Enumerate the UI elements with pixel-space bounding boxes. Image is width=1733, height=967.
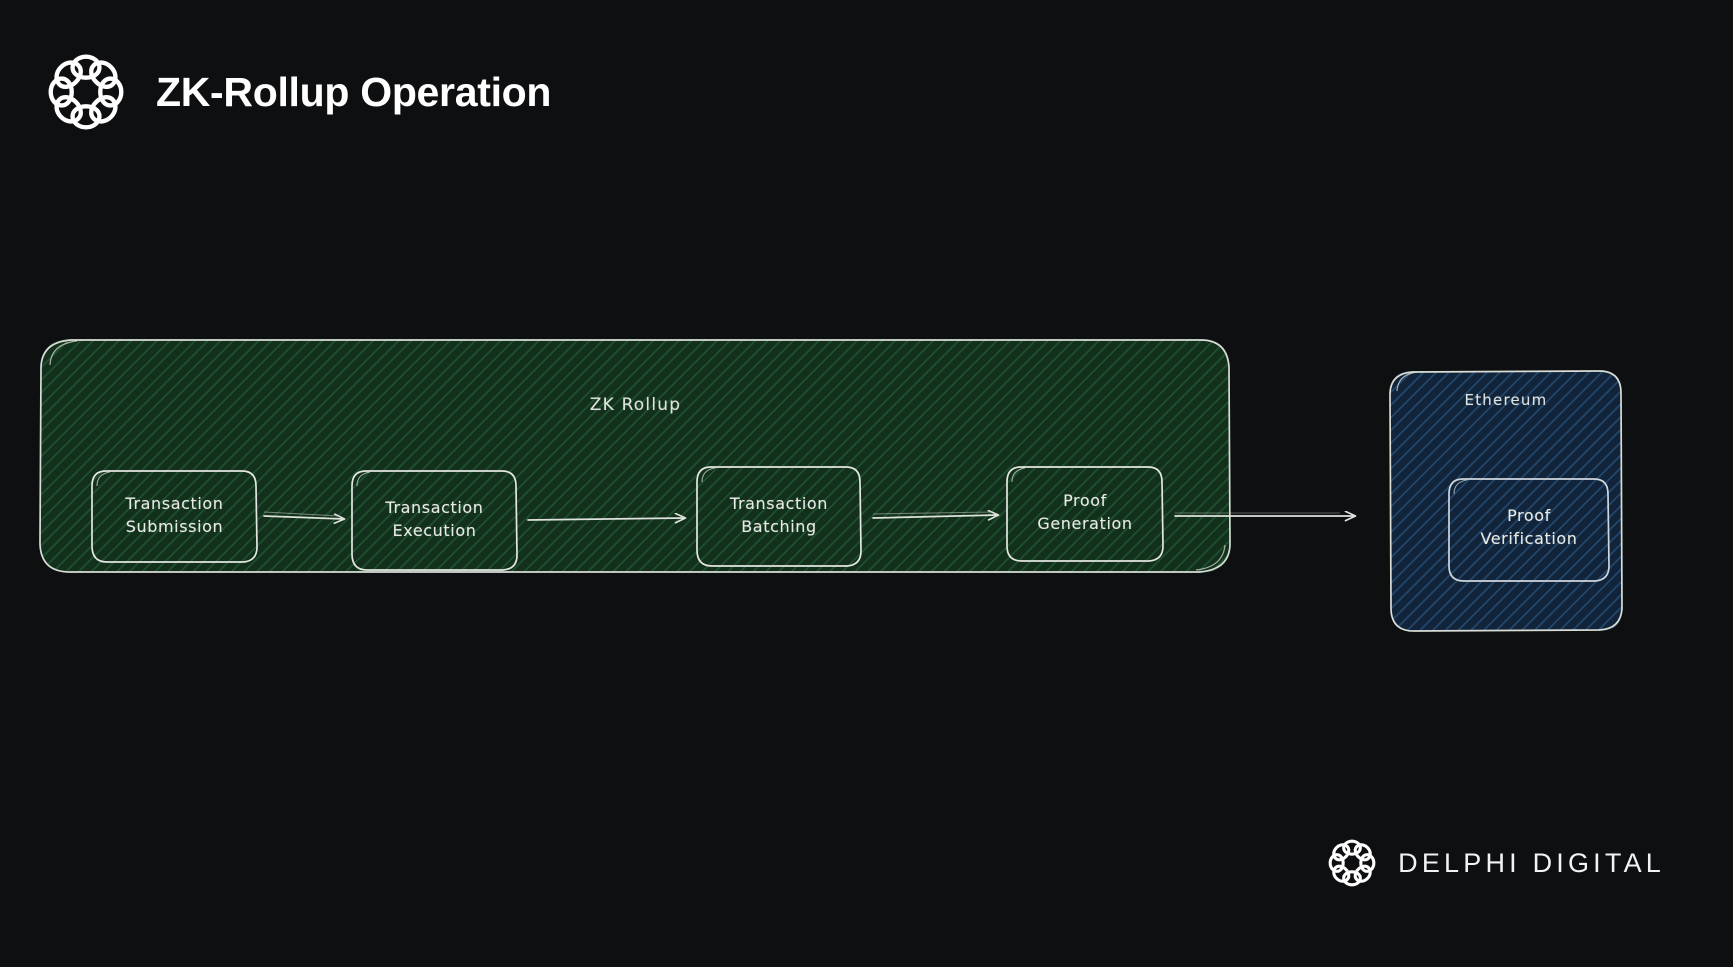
slide-footer: DELPHI DIGITAL	[1326, 837, 1665, 889]
flowchart-diagram: ZK Rollup Ethereum Transaction Submissio…	[0, 0, 1733, 967]
slide-canvas: ZK-Rollup Operation	[0, 0, 1733, 967]
footer-brand-text: DELPHI DIGITAL	[1398, 848, 1665, 879]
group-ethereum[interactable]	[1390, 371, 1622, 631]
delphi-braided-ring-logo-icon	[1326, 837, 1378, 889]
group-zk-rollup[interactable]	[40, 339, 1230, 573]
